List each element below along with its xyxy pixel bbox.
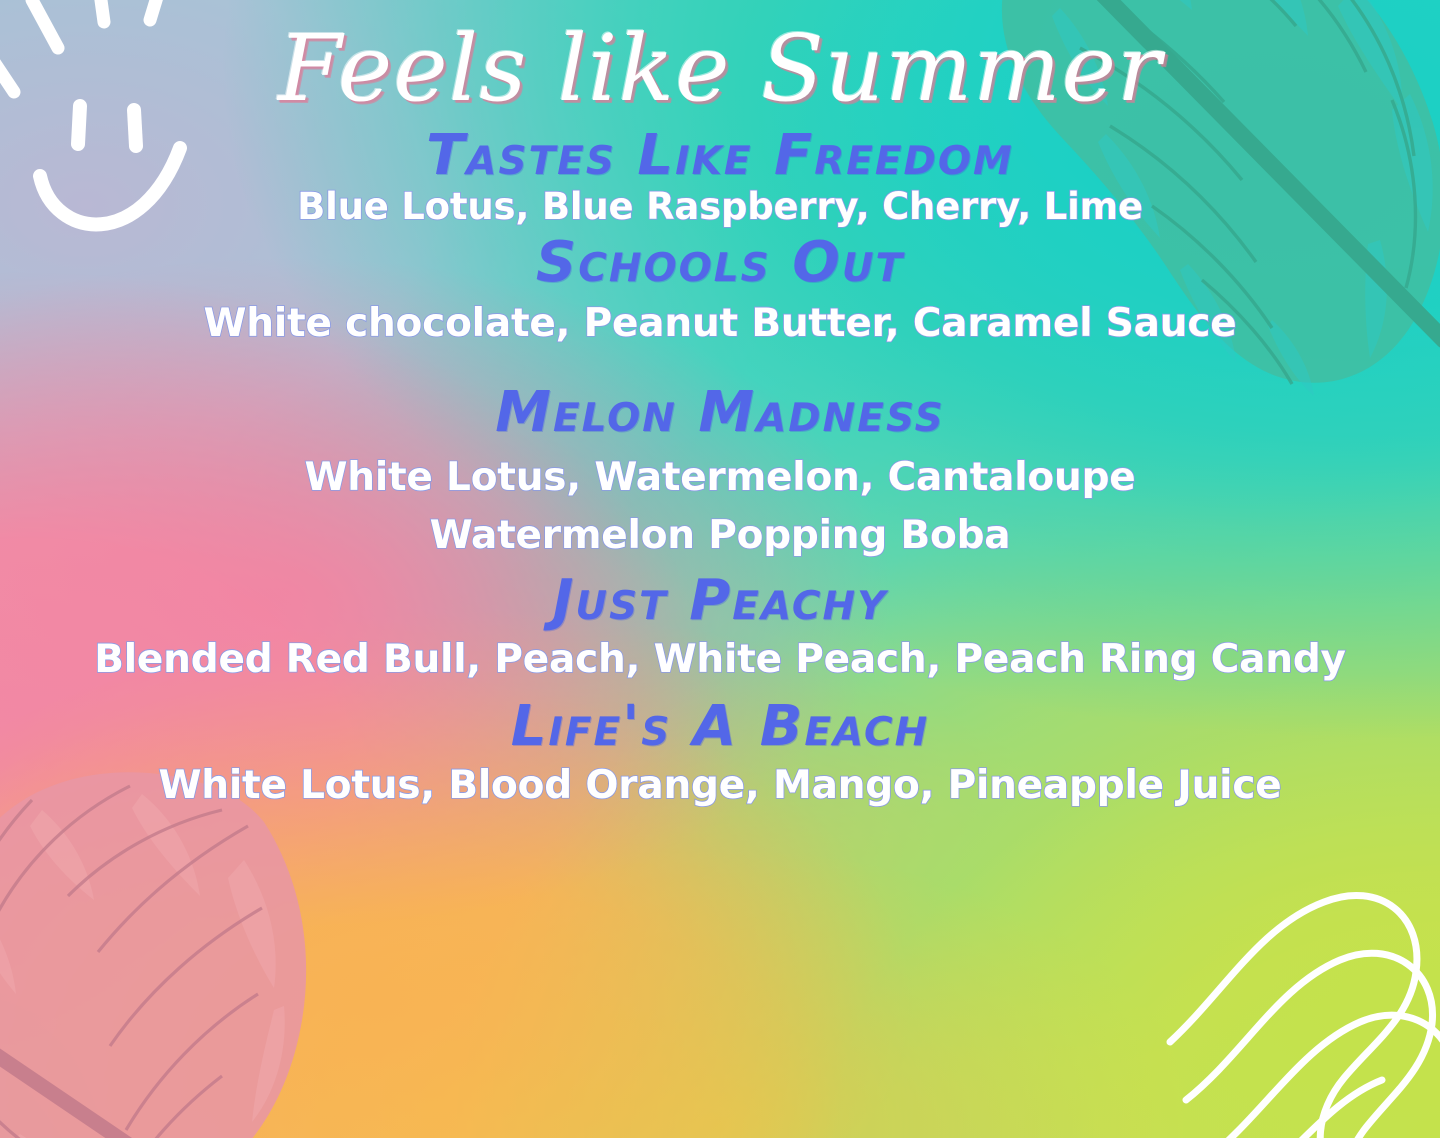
- drink-name: Melon Madness: [0, 383, 1440, 443]
- drink-menu-list: Tastes Like Freedom Blue Lotus, Blue Ras…: [0, 124, 1440, 809]
- drink-description-line: Blended Red Bull, Peach, White Peach, Pe…: [0, 636, 1440, 684]
- drink-item-lifes-a-beach: Life's a Beach White Lotus, Blood Orange…: [0, 683, 1440, 809]
- drink-name: Just Peachy: [0, 571, 1440, 631]
- poster-content: Feels like Summer Tastes Like Freedom Bl…: [0, 0, 1440, 1138]
- poster-title: Feels like Summer: [278, 22, 1162, 116]
- drink-name: Life's a Beach: [0, 697, 1440, 757]
- drink-item-just-peachy: Just Peachy Blended Red Bull, Peach, Whi…: [0, 559, 1440, 683]
- drink-description-line: White chocolate, Peanut Butter, Caramel …: [0, 300, 1440, 348]
- drink-description-line: Watermelon Popping Boba: [0, 512, 1440, 560]
- drink-name: Schools Out: [0, 233, 1440, 293]
- drink-name: Tastes Like Freedom: [0, 126, 1440, 186]
- drink-description-line: White Lotus, Watermelon, Cantaloupe: [0, 454, 1440, 502]
- drink-item-melon-madness: Melon Madness White Lotus, Watermelon, C…: [0, 347, 1440, 559]
- summer-menu-poster: Feels like Summer Tastes Like Freedom Bl…: [0, 0, 1440, 1138]
- drink-item-tastes-like-freedom: Tastes Like Freedom Blue Lotus, Blue Ras…: [0, 124, 1440, 230]
- drink-description-line: Blue Lotus, Blue Raspberry, Cherry, Lime: [0, 184, 1440, 229]
- drink-item-schools-out: Schools Out White chocolate, Peanut Butt…: [0, 229, 1440, 347]
- drink-description-line: White Lotus, Blood Orange, Mango, Pineap…: [0, 762, 1440, 810]
